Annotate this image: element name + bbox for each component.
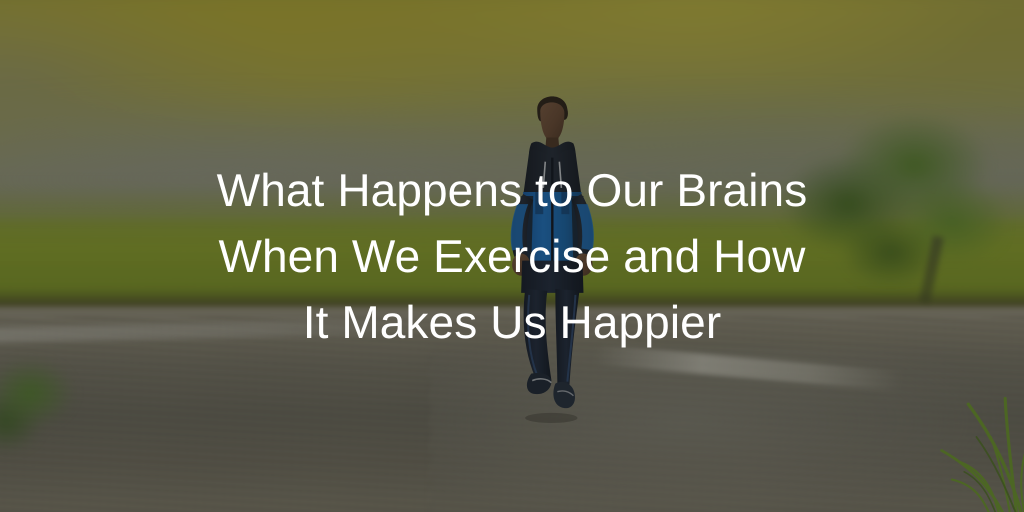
- title-container: What Happens to Our Brains When We Exerc…: [0, 0, 1024, 512]
- hero-banner: What Happens to Our Brains When We Exerc…: [0, 0, 1024, 512]
- page-title: What Happens to Our Brains When We Exerc…: [212, 157, 812, 356]
